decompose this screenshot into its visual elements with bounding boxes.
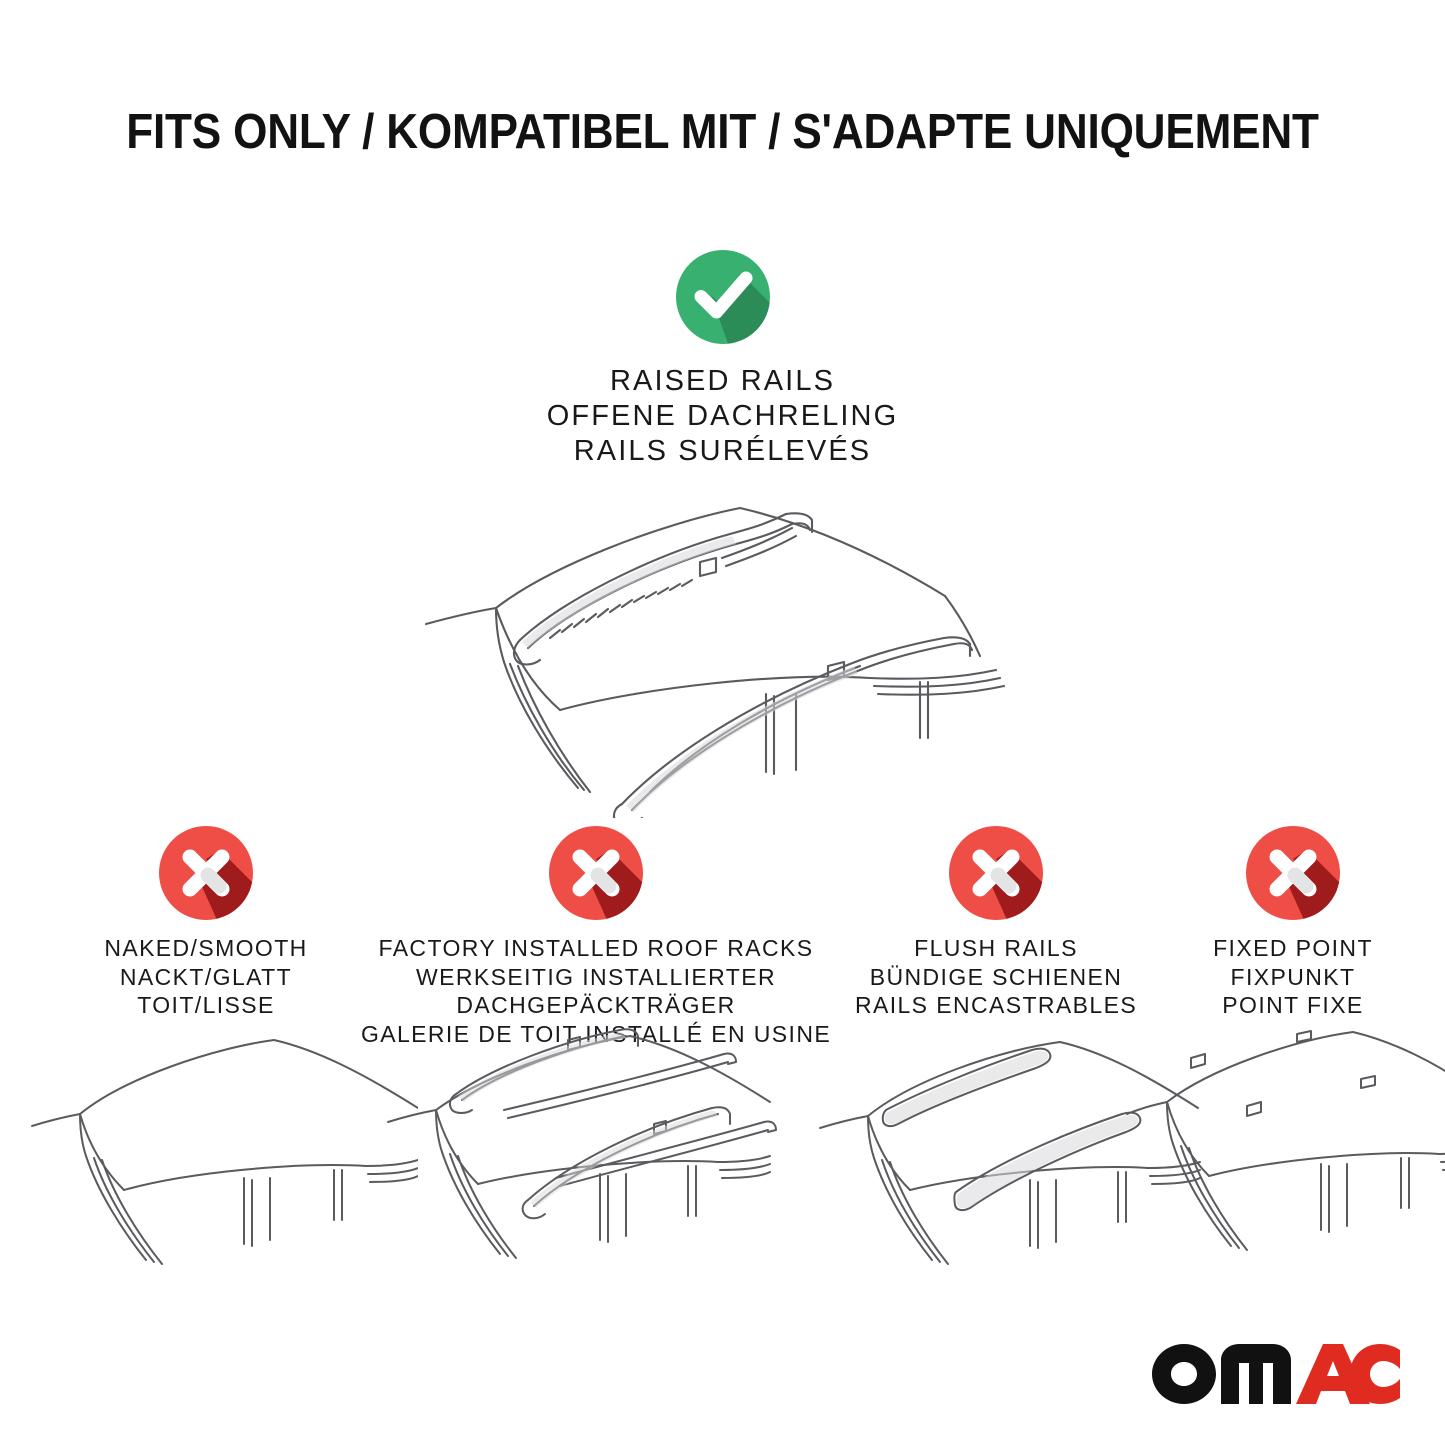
car-roof-factory-racks-illustration <box>378 1022 798 1272</box>
rejected-item-flush-rails: FLUSH RAILS BÜNDIGE SCHIENEN RAILS ENCAS… <box>846 826 1146 1020</box>
rejected-item-naked-smooth: NAKED/SMOOTH NACKT/GLATT TOIT/LISSE <box>48 826 364 1020</box>
rejected-label-line-2: NACKT/GLATT <box>104 963 307 992</box>
rejected-item-factory-racks: FACTORY INSTALLED ROOF RACKS WERKSEITIG … <box>378 826 814 1048</box>
rejected-label-line-2: BÜNDIGE SCHIENEN <box>855 963 1137 992</box>
rejected-label-line-3: DACHGEPÄCKTRÄGER <box>361 991 831 1020</box>
rejected-label-line-1: FLUSH RAILS <box>855 934 1137 963</box>
approved-block: RAISED RAILS OFFENE DACHRELING RAILS SUR… <box>0 250 1445 469</box>
rejected-label-flush-rails: FLUSH RAILS BÜNDIGE SCHIENEN RAILS ENCAS… <box>855 934 1137 1020</box>
rejected-label-line-3: POINT FIXE <box>1213 991 1373 1020</box>
approved-label-line-1: RAISED RAILS <box>547 364 899 399</box>
car-roof-naked-smooth-illustration <box>18 1022 418 1272</box>
omac-logo: OMAC <box>1151 1343 1401 1405</box>
rejected-label-fixed-point: FIXED POINT FIXPUNKT POINT FIXE <box>1213 934 1373 1020</box>
rejected-item-fixed-point: FIXED POINT FIXPUNKT POINT FIXE <box>1160 826 1426 1020</box>
rejected-label-line-2: FIXPUNKT <box>1213 963 1373 992</box>
rejected-label-line-1: FIXED POINT <box>1213 934 1373 963</box>
x-circle-icon <box>1246 826 1340 920</box>
page-title: FITS ONLY / KOMPATIBEL MIT / S'ADAPTE UN… <box>72 104 1373 160</box>
car-roof-raised-rails-illustration <box>400 488 1060 818</box>
approved-label-line-2: OFFENE DACHRELING <box>547 399 899 434</box>
rejected-label-line-1: FACTORY INSTALLED ROOF RACKS <box>361 934 831 963</box>
x-circle-icon <box>159 826 253 920</box>
rejected-label-line-1: NAKED/SMOOTH <box>104 934 307 963</box>
compatibility-infographic: FITS ONLY / KOMPATIBEL MIT / S'ADAPTE UN… <box>0 0 1445 1445</box>
rejected-label-line-2: WERKSEITIG INSTALLIERTER <box>361 963 831 992</box>
approved-label-line-3: RAILS SURÉLEVÉS <box>547 434 899 469</box>
x-circle-icon <box>949 826 1043 920</box>
car-roof-fixed-point-illustration <box>1125 1022 1445 1272</box>
x-circle-icon <box>549 826 643 920</box>
approved-label: RAISED RAILS OFFENE DACHRELING RAILS SUR… <box>547 364 899 469</box>
rejected-label-naked-smooth: NAKED/SMOOTH NACKT/GLATT TOIT/LISSE <box>104 934 307 1020</box>
rejected-label-line-3: TOIT/LISSE <box>104 991 307 1020</box>
rejected-label-line-3: RAILS ENCASTRABLES <box>855 991 1137 1020</box>
check-circle-icon <box>676 250 770 344</box>
